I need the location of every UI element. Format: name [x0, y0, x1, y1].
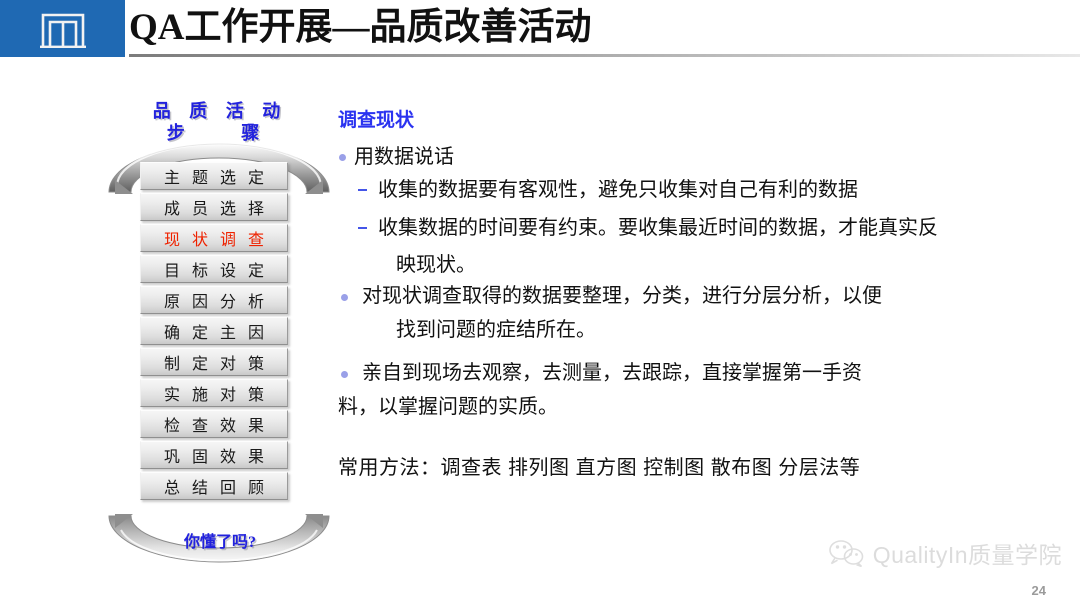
- step-item[interactable]: 原 因 分 析: [140, 286, 288, 314]
- bullet-text-continuation: 找到问题的症结所在。: [338, 315, 1050, 346]
- bullet-level1: 亲自到现场去观察，去测量，去跟踪，直接掌握第一手资: [338, 358, 1050, 388]
- step-item[interactable]: 巩 固 效 果: [140, 441, 288, 469]
- bullet-dot-icon: [339, 154, 346, 161]
- bullet-level1: 对现状调查取得的数据要整理，分类，进行分层分析，以便: [338, 281, 1050, 311]
- bullet-text: 收集数据的时间要有约束。要收集最近时间的数据，才能真实反: [378, 217, 938, 239]
- bullet-text: 对现状调查取得的数据要整理，分类，进行分层分析，以便: [362, 285, 882, 307]
- step-item[interactable]: 主 题 选 定: [140, 162, 288, 190]
- bullet-text: 亲自到现场去观察，去测量，去跟踪，直接掌握第一手资: [362, 362, 862, 384]
- logo-background: [0, 0, 125, 57]
- watermark-text: QualityIn质量学院: [873, 536, 1062, 570]
- page-number: 24: [1032, 583, 1046, 598]
- content-heading: 调查现状: [338, 108, 1050, 134]
- bullet-text-continuation: 料，以掌握问题的实质。: [338, 392, 1050, 423]
- step-item[interactable]: 确 定 主 因: [140, 317, 288, 345]
- bullet-text: 收集的数据要有客观性，避免只收集对自己有利的数据: [378, 179, 858, 201]
- steps-heading-line1: 品 质 活 动: [95, 100, 345, 122]
- quality-steps-panel: 品 质 活 动 步 骤 主 题 选 定 成 员 选 择 现 状 调 查 目 标 …: [95, 100, 345, 570]
- slide-canvas: QA工作开展—品质改善活动 品 质 活 动 步 骤: [0, 0, 1080, 608]
- content-panel: 调查现状 用数据说话 收集的数据要有客观性，避免只收集对自己有利的数据 收集数据…: [338, 108, 1050, 483]
- step-item-current[interactable]: 现 状 调 查: [140, 224, 288, 252]
- step-item[interactable]: 目 标 设 定: [140, 255, 288, 283]
- step-item[interactable]: 成 员 选 择: [140, 193, 288, 221]
- dash-bullet-icon: [358, 189, 367, 191]
- bullet-dot-icon: [341, 371, 348, 378]
- page-title: QA工作开展—品质改善活动: [129, 4, 592, 52]
- cycle-arc-bottom-icon: [103, 508, 335, 568]
- steps-list: 主 题 选 定 成 员 选 择 现 状 调 查 目 标 设 定 原 因 分 析 …: [140, 162, 288, 503]
- wechat-icon: [827, 539, 865, 567]
- step-item[interactable]: 检 查 效 果: [140, 410, 288, 438]
- bullet-dot-icon: [341, 294, 348, 301]
- step-item[interactable]: 总 结 回 顾: [140, 472, 288, 500]
- step-item[interactable]: 实 施 对 策: [140, 379, 288, 407]
- bullet-text: 用数据说话: [354, 146, 454, 168]
- building-gate-logo-icon: [38, 9, 88, 49]
- dash-bullet-icon: [358, 227, 367, 229]
- bullet-level1: 用数据说话: [338, 142, 1050, 172]
- title-divider: [129, 54, 1080, 57]
- bullet-level2: 收集的数据要有客观性，避免只收集对自己有利的数据: [338, 174, 1050, 207]
- step-item[interactable]: 制 定 对 策: [140, 348, 288, 376]
- watermark: QualityIn质量学院: [827, 536, 1062, 570]
- bullet-level2: 收集数据的时间要有约束。要收集最近时间的数据，才能真实反: [338, 212, 1050, 245]
- bullet-text-continuation: 映现状。: [338, 250, 1050, 281]
- common-methods-line: 常用方法：调查表 排列图 直方图 控制图 散布图 分层法等: [338, 453, 1050, 483]
